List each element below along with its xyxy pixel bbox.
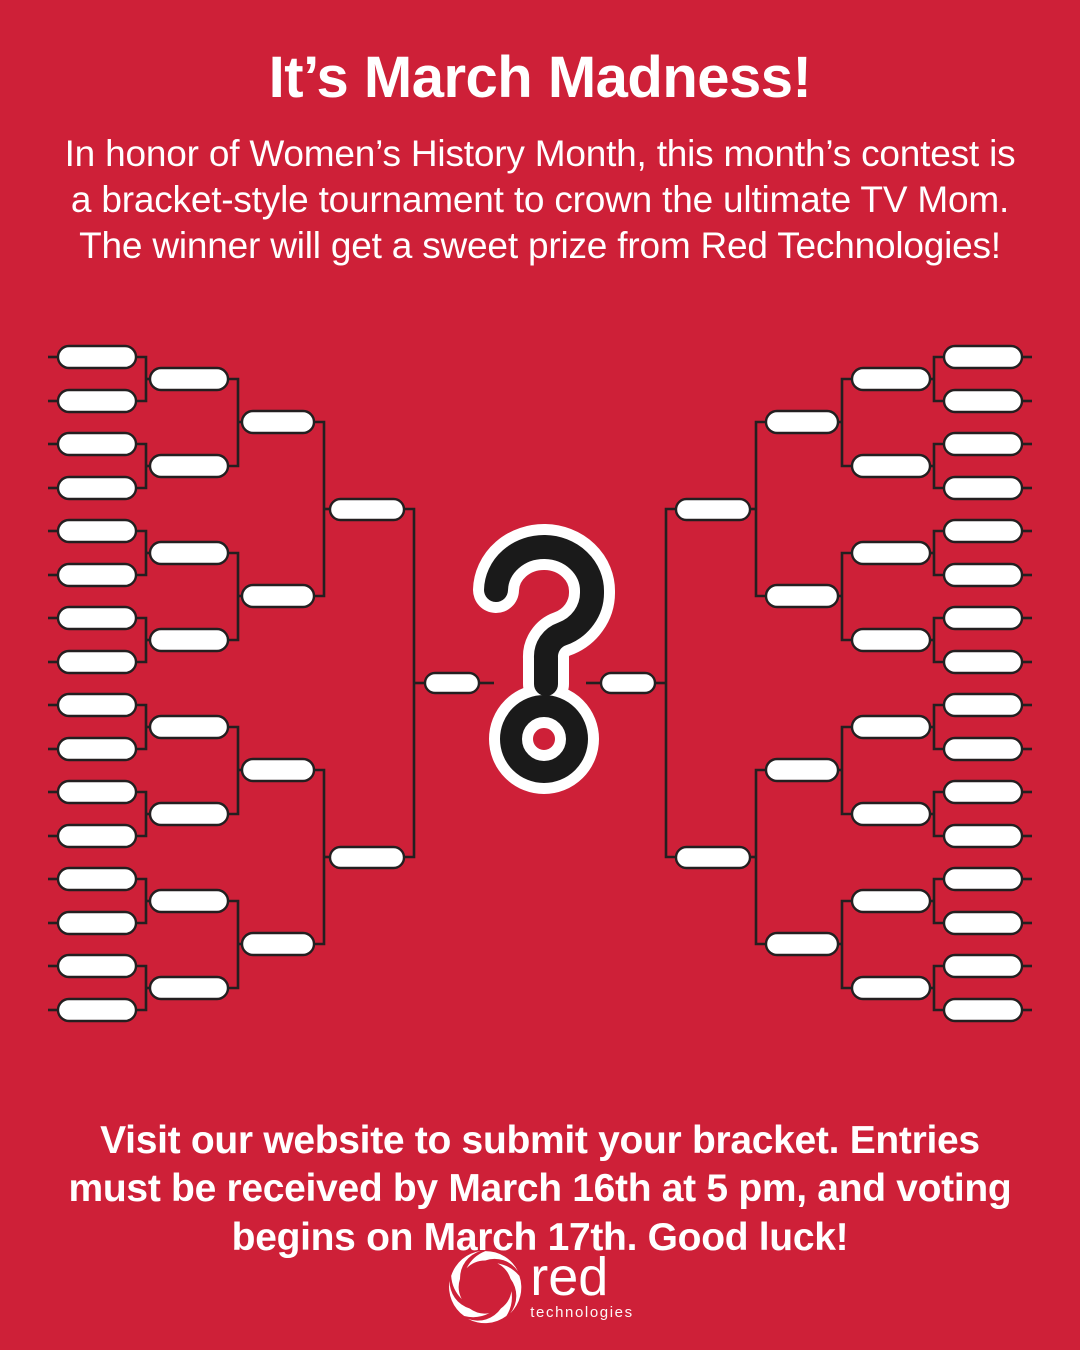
bracket-slot[interactable]: [944, 477, 1022, 499]
bracket-slot[interactable]: [944, 607, 1022, 629]
bracket-slot[interactable]: [944, 564, 1022, 586]
bracket-slot[interactable]: [676, 847, 750, 868]
bracket-slot[interactable]: [58, 607, 136, 629]
bracket-slot-final-left[interactable]: [425, 673, 479, 693]
bracket-slot[interactable]: [150, 368, 228, 390]
bracket-slot[interactable]: [852, 455, 930, 477]
bracket-slot[interactable]: [944, 520, 1022, 542]
bracket-slot[interactable]: [242, 933, 314, 955]
bracket-slot[interactable]: [150, 803, 228, 825]
bracket-slot[interactable]: [58, 825, 136, 847]
bracket-slot[interactable]: [944, 825, 1022, 847]
bracket-slot[interactable]: [766, 933, 838, 955]
bracket-slot[interactable]: [852, 542, 930, 564]
bracket-slot[interactable]: [58, 868, 136, 890]
bracket-slot[interactable]: [58, 390, 136, 412]
bracket-slot[interactable]: [150, 890, 228, 912]
bracket-slot[interactable]: [330, 847, 404, 868]
bracket-slot[interactable]: [58, 477, 136, 499]
bracket-slot[interactable]: [58, 433, 136, 455]
bracket-slot[interactable]: [944, 694, 1022, 716]
bracket-slot[interactable]: [242, 411, 314, 433]
bracket-slot[interactable]: [944, 433, 1022, 455]
bracket-slot[interactable]: [766, 585, 838, 607]
red-technologies-logo: red technologies: [446, 1248, 633, 1326]
bracket-slot[interactable]: [150, 977, 228, 999]
bracket-slot[interactable]: [944, 390, 1022, 412]
logo-word-technologies: technologies: [530, 1304, 633, 1321]
bracket-slot[interactable]: [242, 585, 314, 607]
header-subtitle: In honor of Women’s History Month, this …: [50, 131, 1030, 270]
logo-word-red: red: [530, 1253, 633, 1302]
bracket-slot[interactable]: [766, 759, 838, 781]
bracket-slot[interactable]: [852, 977, 930, 999]
bracket-slot[interactable]: [58, 912, 136, 934]
bracket-slot[interactable]: [852, 803, 930, 825]
bracket-slot[interactable]: [944, 651, 1022, 673]
bracket-slot[interactable]: [852, 890, 930, 912]
bracket-slot[interactable]: [242, 759, 314, 781]
bracket-slot[interactable]: [150, 629, 228, 651]
bracket-slot[interactable]: [944, 868, 1022, 890]
bracket-slot[interactable]: [58, 999, 136, 1021]
bracket-slot[interactable]: [58, 955, 136, 977]
bracket-slot[interactable]: [150, 542, 228, 564]
page-title: It’s March Madness!: [0, 48, 1080, 109]
tournament-bracket: [0, 330, 1080, 1055]
bracket-slot[interactable]: [58, 694, 136, 716]
bracket-slot[interactable]: [852, 716, 930, 738]
bracket-slot[interactable]: [58, 651, 136, 673]
bracket-slot[interactable]: [676, 499, 750, 520]
footer-instructions: Visit our website to submit your bracket…: [50, 1117, 1030, 1262]
bracket-slot-final-right[interactable]: [601, 673, 655, 693]
bracket-graphic: [0, 330, 1080, 1055]
logo-wordmark: red technologies: [530, 1253, 633, 1321]
bracket-slot[interactable]: [944, 781, 1022, 803]
bracket-slot[interactable]: [150, 716, 228, 738]
bracket-slot[interactable]: [944, 738, 1022, 760]
bracket-slot[interactable]: [58, 564, 136, 586]
question-mark-icon: [496, 547, 592, 772]
bracket-slot[interactable]: [852, 629, 930, 651]
bracket-slot[interactable]: [58, 520, 136, 542]
march-madness-poster: It’s March Madness! In honor of Women’s …: [0, 0, 1080, 1350]
header: It’s March Madness! In honor of Women’s …: [0, 0, 1080, 270]
bracket-slot[interactable]: [766, 411, 838, 433]
bracket-slot[interactable]: [58, 781, 136, 803]
bracket-slot[interactable]: [944, 346, 1022, 368]
bracket-slot[interactable]: [944, 912, 1022, 934]
bracket-slot[interactable]: [944, 955, 1022, 977]
bracket-slot[interactable]: [852, 368, 930, 390]
bracket-slot[interactable]: [944, 999, 1022, 1021]
bracket-slot[interactable]: [58, 346, 136, 368]
aperture-swirl-icon: [446, 1248, 524, 1326]
bracket-slot[interactable]: [150, 455, 228, 477]
bracket-slot[interactable]: [58, 738, 136, 760]
bracket-slot[interactable]: [330, 499, 404, 520]
